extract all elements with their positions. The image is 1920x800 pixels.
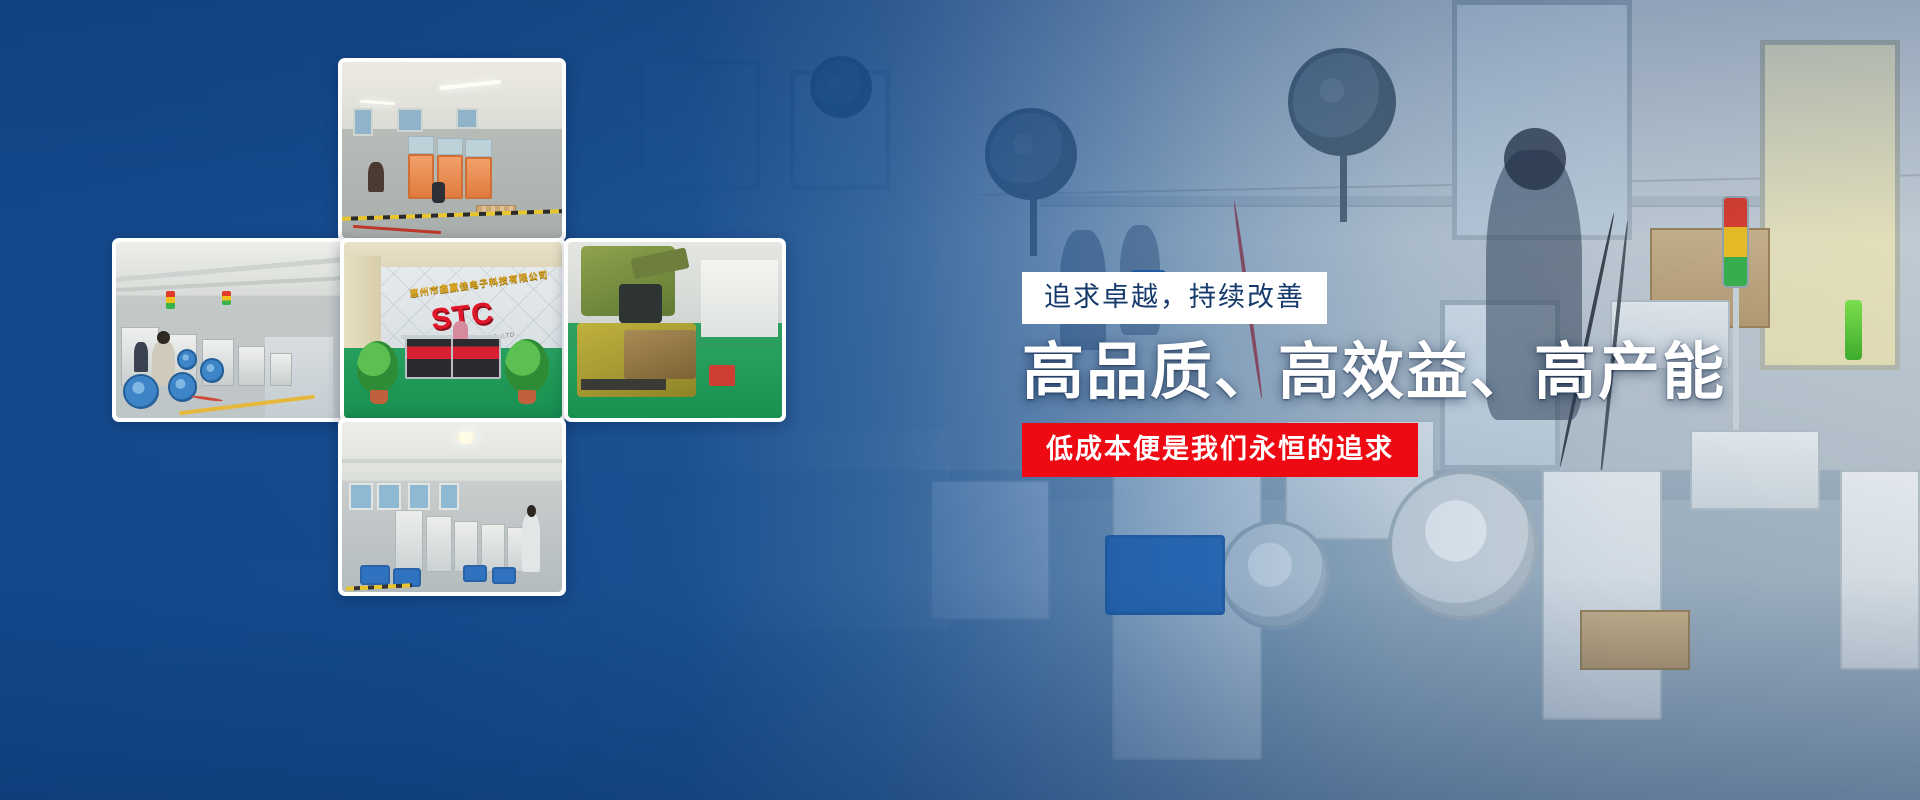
collage-photo-top	[338, 58, 566, 242]
collage-photo-left	[112, 238, 346, 422]
sub-badge: 低成本便是我们永恒的追求	[1022, 423, 1418, 477]
banner-text-block: 追求卓越，持续改善 高品质、高效益、高产能 低成本便是我们永恒的追求	[1022, 272, 1722, 477]
tagline-badge: 追求卓越，持续改善	[1022, 272, 1327, 324]
collage-photo-bottom	[338, 418, 566, 596]
photo-collage: 惠州市鑫赢佳电子科技有限公司 STC CO.,LTD	[112, 58, 812, 598]
banner-headline: 高品质、高效益、高产能	[1022, 340, 1722, 403]
collage-photo-center-stc-reception: 惠州市鑫赢佳电子科技有限公司 STC CO.,LTD	[340, 238, 566, 422]
hero-banner: 惠州市鑫赢佳电子科技有限公司 STC CO.,LTD	[0, 0, 1920, 800]
collage-photo-right	[564, 238, 786, 422]
